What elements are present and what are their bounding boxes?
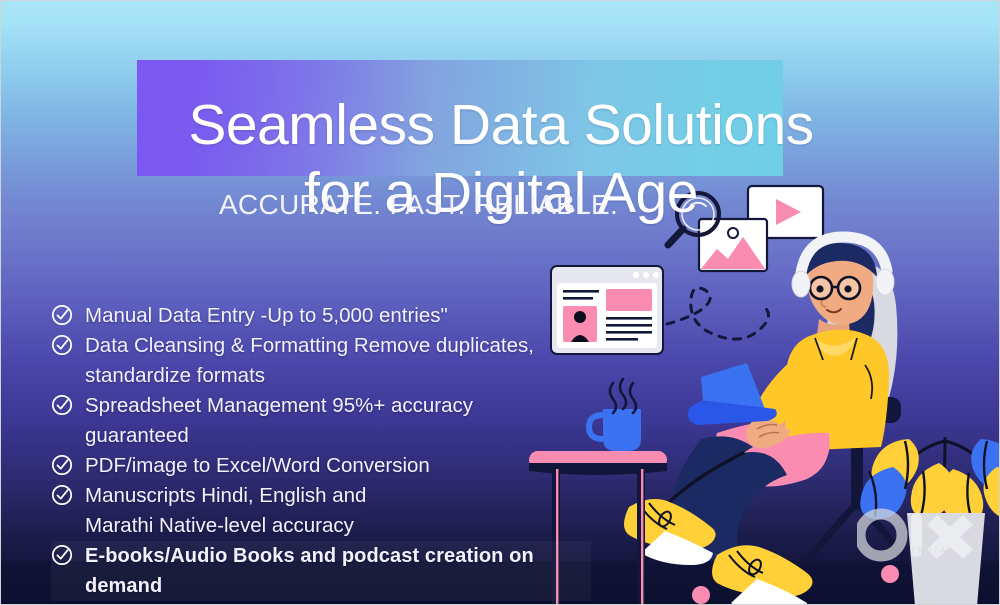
feature-item: Data Cleansing & Formatting Remove dupli… [51,331,591,391]
feature-item-label: Spreadsheet Management 95%+ accuracy gua… [85,391,473,451]
check-circle-icon [51,544,85,566]
feature-item: Manuscripts Hindi, English and Marathi N… [51,481,591,541]
check-circle-icon [51,454,85,476]
olx-watermark-sub: INDIA [912,546,948,555]
feature-item-label: PDF/image to Excel/Word Conversion [85,451,430,481]
seat-cushion [715,419,830,479]
feature-item-label: Data Cleansing & Formatting Remove dupli… [85,331,534,391]
feature-item: PDF/image to Excel/Word Conversion [51,451,591,481]
woman-with-laptop [624,237,894,605]
feature-item-label: Manual Data Entry -Up to 5,000 entries" [85,301,448,331]
sneaker-right [712,545,813,605]
olx-logo-icon [857,501,977,571]
feature-item: Spreadsheet Management 95%+ accuracy gua… [51,391,591,451]
page-subtitle: ACCURATE. FAST. RELIABLE. [1,189,836,221]
title-line-1: Seamless Data Solutions [1,91,1000,159]
feature-item-label: E-books/Audio Books and podcast creation… [85,541,591,601]
check-circle-icon [51,304,85,326]
coffee-mug [589,379,641,451]
poster-canvas: Seamless Data Solutions for a Digital Ag… [0,0,1000,605]
dashed-path [667,288,769,339]
feature-item: E-books/Audio Books and podcast creation… [51,541,591,601]
check-circle-icon [51,334,85,356]
check-circle-icon [51,484,85,506]
sneaker-left [624,499,716,565]
feature-item-label: Manuscripts Hindi, English and Marathi N… [85,481,366,541]
feature-item: Manual Data Entry -Up to 5,000 entries" [51,301,591,331]
feature-list: Manual Data Entry -Up to 5,000 entries"D… [51,301,591,601]
check-circle-icon [51,394,85,416]
olx-watermark: INDIA [857,501,977,581]
